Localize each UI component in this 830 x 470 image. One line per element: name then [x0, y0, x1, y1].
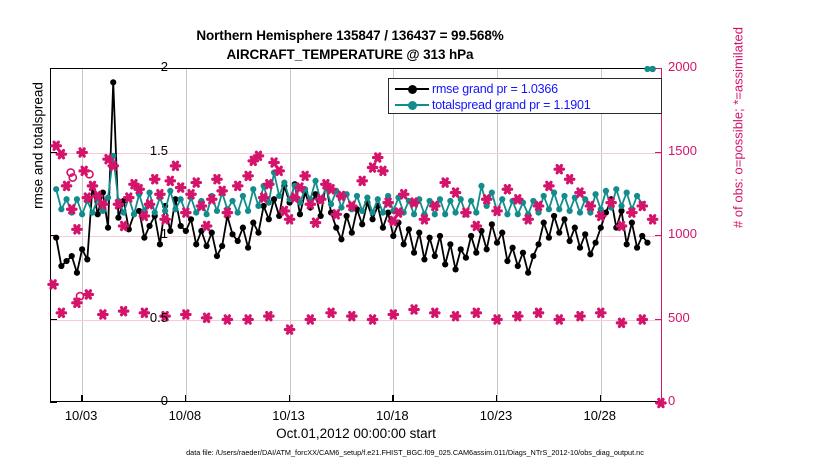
obs-assimilated-marker — [223, 316, 231, 323]
obs-assimilated-marker — [384, 199, 392, 206]
y-axis-left-tick-mark — [50, 152, 57, 153]
obs-assimilated-marker — [202, 314, 210, 321]
data-point-marker — [312, 178, 318, 184]
data-point-marker — [193, 241, 199, 247]
obs-assimilated-marker — [576, 313, 584, 320]
y-axis-left-tick-label: 1.5 — [124, 143, 168, 158]
obs-assimilated-marker — [192, 179, 200, 186]
obs-assimilated-marker — [176, 184, 184, 191]
data-point-marker — [359, 221, 365, 227]
data-point-marker — [592, 191, 598, 197]
data-point-marker — [167, 188, 173, 194]
obs-assimilated-marker — [275, 167, 283, 174]
data-point-marker — [629, 220, 635, 226]
data-point-marker — [390, 233, 396, 239]
obs-assimilated-marker — [482, 196, 490, 203]
y-axis-left-tick-mark — [50, 319, 57, 320]
obs-assimilated-marker — [514, 196, 522, 203]
data-point-marker — [364, 194, 370, 200]
data-point-marker — [219, 243, 225, 249]
data-point-marker — [266, 216, 272, 222]
obs-assimilated-marker — [617, 319, 625, 326]
data-point-marker — [489, 221, 495, 227]
x-axis-tick-mark — [81, 395, 82, 402]
obs-assimilated-marker — [83, 194, 91, 201]
data-point-marker — [561, 216, 567, 222]
data-point-marker — [546, 206, 552, 212]
data-point-marker — [229, 231, 235, 237]
obs-assimilated-marker — [166, 177, 174, 184]
data-file-footer: data file: /Users/raeder/DAI/ATM_forcXX/… — [0, 448, 830, 457]
data-point-marker — [63, 196, 69, 202]
obs-assimilated-marker — [265, 181, 273, 188]
x-axis-tick-mark — [289, 395, 290, 402]
data-point-marker — [53, 186, 59, 192]
data-point-marker — [582, 231, 588, 237]
data-point-marker — [520, 250, 526, 256]
data-point-marker — [172, 206, 178, 212]
data-point-marker — [214, 253, 220, 259]
data-point-marker — [178, 223, 184, 229]
obs-assimilated-marker — [410, 199, 418, 206]
data-point-marker — [338, 236, 344, 242]
data-point-marker — [525, 270, 531, 276]
obs-assimilated-marker — [296, 184, 304, 191]
chart-legend: rmse grand pr = 1.0366 totalspread grand… — [388, 78, 662, 114]
data-point-marker — [245, 245, 251, 251]
obs-assimilated-marker — [182, 209, 190, 216]
data-point-marker — [447, 241, 453, 247]
obs-assimilated-marker — [311, 219, 319, 226]
data-point-marker — [255, 203, 261, 209]
data-point-marker — [328, 201, 334, 207]
obs-assimilated-marker — [327, 186, 335, 193]
obs-assimilated-marker — [348, 313, 356, 320]
data-point-marker — [297, 211, 303, 217]
data-point-marker — [463, 255, 469, 261]
obs-assimilated-marker — [607, 199, 615, 206]
obs-assimilated-marker — [88, 182, 96, 189]
obs-assimilated-marker — [576, 189, 584, 196]
series--of-obs-assimilated — [49, 142, 665, 406]
legend-label-rmse: rmse grand pr = 1.0366 — [432, 82, 558, 96]
chart-title: Northern Hemisphere 135847 / 136437 = 99… — [0, 26, 700, 64]
obs-assimilated-marker — [187, 191, 195, 198]
obs-assimilated-marker — [306, 201, 314, 208]
obs-assimilated-marker — [472, 309, 480, 316]
x-axis-tick-mark — [185, 395, 186, 402]
obs-assimilated-marker — [234, 182, 242, 189]
x-axis-tick-label: 10/08 — [150, 408, 220, 423]
data-point-marker — [468, 233, 474, 239]
data-point-marker — [406, 226, 412, 232]
data-point-marker — [427, 235, 433, 241]
obs-assimilated-marker — [62, 182, 70, 189]
data-point-marker — [551, 213, 557, 219]
obs-assimilated-marker — [441, 179, 449, 186]
data-point-marker — [79, 246, 85, 252]
obs-assimilated-marker — [399, 191, 407, 198]
data-point-marker — [634, 193, 640, 199]
obs-assimilated-marker — [57, 151, 65, 158]
obs-assimilated-marker — [213, 176, 221, 183]
y-axis-left-tick-label: 0.5 — [124, 310, 168, 325]
obs-assimilated-marker — [125, 194, 133, 201]
data-point-marker — [556, 230, 562, 236]
data-point-marker — [499, 196, 505, 202]
x-axis-tick-label: 10/18 — [357, 408, 427, 423]
data-point-marker — [437, 233, 443, 239]
data-point-marker — [380, 225, 386, 231]
figure-canvas: Northern Hemisphere 135847 / 136437 = 99… — [0, 0, 830, 470]
obs-assimilated-marker — [493, 316, 501, 323]
data-point-marker — [509, 245, 515, 251]
y-axis-left-tick-mark — [50, 235, 57, 236]
y-axis-right-tick-label: 1000 — [668, 226, 728, 241]
obs-assimilated-marker — [57, 309, 65, 316]
x-axis-tick-label: 10/23 — [461, 408, 531, 423]
obs-assimilated-marker — [389, 311, 397, 318]
data-point-marker — [592, 240, 598, 246]
obs-assimilated-marker — [73, 226, 81, 233]
obs-assimilated-marker — [628, 209, 636, 216]
data-point-marker — [121, 210, 127, 216]
obs-assimilated-marker — [565, 176, 573, 183]
obs-assimilated-marker — [109, 162, 117, 169]
data-point-marker — [624, 241, 630, 247]
data-point-marker — [369, 210, 375, 216]
obs-assimilated-marker — [244, 316, 252, 323]
data-point-marker — [577, 245, 583, 251]
obs-assimilated-marker — [374, 154, 382, 161]
data-point-marker — [240, 193, 246, 199]
y-axis-right-tick-mark — [655, 402, 662, 403]
data-point-marker — [250, 220, 256, 226]
obs-assimilated-marker — [368, 316, 376, 323]
data-point-marker — [613, 186, 619, 192]
obs-assimilated-marker — [534, 202, 542, 209]
obs-assimilated-marker — [389, 217, 397, 224]
obs-assimilated-marker — [524, 216, 532, 223]
data-point-marker — [577, 210, 583, 216]
obs-assimilated-marker — [265, 313, 273, 320]
data-point-marker — [271, 196, 277, 202]
y-axis-left-label: rmse and totalspread — [31, 16, 46, 276]
y-axis-right-tick-label: 2000 — [668, 59, 728, 74]
data-point-marker — [58, 206, 64, 212]
y-axis-left-tick-label: 2 — [124, 59, 168, 74]
obs-assimilated-marker — [306, 316, 314, 323]
obs-assimilated-marker — [337, 192, 345, 199]
obs-assimilated-marker — [431, 202, 439, 209]
obs-assimilated-marker — [156, 191, 164, 198]
data-point-marker — [618, 203, 624, 209]
data-point-marker — [432, 211, 438, 217]
x-axis-tick-label: 10/03 — [46, 408, 116, 423]
legend-item-rmse: rmse grand pr = 1.0366 — [395, 81, 661, 97]
data-point-marker — [349, 230, 355, 236]
obs-assimilated-marker — [555, 316, 563, 323]
obs-assimilated-marker — [49, 281, 57, 288]
data-point-marker — [530, 253, 536, 259]
y-axis-right-tick-label: 1500 — [668, 143, 728, 158]
data-point-marker — [452, 210, 458, 216]
obs-assimilated-marker — [182, 311, 190, 318]
data-point-marker — [567, 208, 573, 214]
y-axis-right-label: # of obs: o=possible; *=assimilated — [731, 0, 746, 288]
obs-assimilated-marker — [202, 222, 210, 229]
data-point-marker — [546, 235, 552, 241]
data-point-marker — [442, 211, 448, 217]
obs-assimilated-marker — [586, 202, 594, 209]
data-point-marker — [416, 230, 422, 236]
data-point-marker — [535, 241, 541, 247]
data-point-marker — [572, 225, 578, 231]
data-point-marker — [89, 210, 95, 216]
y-axis-left-tick-mark — [50, 68, 57, 69]
y-axis-right-tick-mark — [655, 319, 662, 320]
legend-label-totalspread: totalspread grand pr = 1.1901 — [432, 98, 591, 112]
data-point-marker — [561, 193, 567, 199]
data-point-marker — [183, 228, 189, 234]
data-point-marker — [214, 208, 220, 214]
obs-assimilated-marker — [135, 186, 143, 193]
obs-assimilated-marker — [503, 186, 511, 193]
obs-assimilated-marker — [332, 211, 340, 218]
data-point-marker — [245, 208, 251, 214]
data-point-marker — [203, 243, 209, 249]
x-axis-tick-label: 10/28 — [565, 408, 635, 423]
data-point-marker — [484, 246, 490, 252]
obs-assimilated-marker — [493, 207, 501, 214]
obs-assimilated-marker — [218, 187, 226, 194]
obs-assimilated-marker — [555, 166, 563, 173]
obs-assimilated-marker — [648, 216, 656, 223]
data-point-marker — [157, 241, 163, 247]
obs-assimilated-marker — [244, 172, 252, 179]
obs-assimilated-marker — [638, 316, 646, 323]
data-point-marker — [110, 79, 116, 85]
chart-title-line-2: AIRCRAFT_TEMPERATURE @ 313 hPa — [0, 45, 700, 64]
obs-assimilated-marker — [431, 309, 439, 316]
obs-assimilated-marker — [638, 202, 646, 209]
data-point-marker — [255, 230, 261, 236]
obs-assimilated-marker — [451, 313, 459, 320]
obs-assimilated-marker — [316, 196, 324, 203]
data-point-marker — [235, 238, 241, 244]
obs-assimilated-marker — [410, 306, 418, 313]
y-axis-left-tick-mark — [50, 402, 57, 403]
y-axis-right-tick-mark — [655, 68, 662, 69]
data-point-marker — [146, 189, 152, 195]
data-point-marker — [442, 261, 448, 267]
data-point-marker — [178, 196, 184, 202]
obs-assimilated-marker — [291, 194, 299, 201]
legend-item-totalspread: totalspread grand pr = 1.1901 — [395, 97, 661, 113]
legend-marker-rmse-icon — [395, 82, 429, 96]
obs-assimilated-marker — [270, 159, 278, 166]
obs-assimilated-marker — [420, 216, 428, 223]
obs-assimilated-marker — [140, 212, 148, 219]
obs-assimilated-marker — [545, 182, 553, 189]
data-point-marker — [79, 211, 85, 217]
obs-assimilated-marker — [472, 222, 480, 229]
data-point-marker — [105, 225, 111, 231]
obs-assimilated-marker — [93, 192, 101, 199]
data-point-marker — [432, 253, 438, 259]
obs-assimilated-marker — [597, 309, 605, 316]
obs-assimilated-marker — [254, 152, 262, 159]
data-point-marker — [411, 250, 417, 256]
data-point-marker — [401, 241, 407, 247]
data-point-marker — [240, 225, 246, 231]
data-point-marker — [359, 208, 365, 214]
data-point-marker — [478, 183, 484, 189]
obs-assimilated-marker — [161, 216, 169, 223]
obs-assimilated-marker — [223, 209, 231, 216]
obs-assimilated-marker — [285, 216, 293, 223]
y-axis-right-tick-label: 0 — [668, 393, 728, 408]
data-point-marker — [369, 216, 375, 222]
data-point-marker — [131, 211, 137, 217]
data-point-marker — [541, 220, 547, 226]
obs-assimilated-marker — [171, 162, 179, 169]
data-point-marker — [63, 258, 69, 264]
obs-assimilated-marker — [327, 309, 335, 316]
obs-assimilated-marker — [84, 291, 92, 298]
data-point-marker — [598, 225, 604, 231]
data-point-marker — [152, 210, 158, 216]
data-point-marker — [458, 246, 464, 252]
data-point-marker — [281, 179, 287, 185]
data-point-marker — [494, 240, 500, 246]
y-axis-left-tick-label: 0 — [124, 393, 168, 408]
data-point-marker — [639, 233, 645, 239]
data-point-marker — [229, 198, 235, 204]
data-point-marker — [203, 211, 209, 217]
data-point-marker — [473, 250, 479, 256]
x-axis-tick-mark — [600, 395, 601, 402]
x-axis-label: Oct.01,2012 00:00:00 start — [50, 426, 662, 441]
data-point-marker — [115, 215, 121, 221]
obs-assimilated-marker — [99, 311, 107, 318]
data-point-marker — [515, 211, 521, 217]
data-point-marker — [235, 210, 241, 216]
data-point-marker — [624, 189, 630, 195]
obs-assimilated-marker — [78, 149, 86, 156]
obs-assimilated-marker — [145, 201, 153, 208]
obs-assimilated-marker — [348, 202, 356, 209]
obs-assimilated-marker — [208, 196, 216, 203]
data-point-marker — [556, 206, 562, 212]
data-point-marker — [354, 193, 360, 199]
y-axis-left-tick-label: 1 — [124, 226, 168, 241]
data-point-marker — [276, 193, 282, 199]
chart-title-line-1: Northern Hemisphere 135847 / 136437 = 99… — [0, 26, 700, 45]
data-point-marker — [375, 196, 381, 202]
obs-assimilated-marker — [280, 207, 288, 214]
obs-assimilated-marker — [358, 177, 366, 184]
obs-assimilated-marker — [301, 172, 309, 179]
data-point-marker — [74, 270, 80, 276]
data-point-marker — [447, 198, 453, 204]
x-axis-tick-mark — [496, 395, 497, 402]
obs-assimilated-marker — [451, 189, 459, 196]
data-point-marker — [411, 211, 417, 217]
obs-assimilated-marker — [514, 313, 522, 320]
data-point-marker — [69, 253, 75, 259]
obs-assimilated-marker — [197, 202, 205, 209]
data-point-marker — [515, 263, 521, 269]
data-point-marker — [541, 193, 547, 199]
data-point-marker — [380, 210, 386, 216]
obs-assimilated-marker — [52, 142, 60, 149]
obs-assimilated-marker — [259, 194, 267, 201]
data-point-marker — [504, 258, 510, 264]
obs-assimilated-marker — [114, 201, 122, 208]
data-point-marker — [603, 188, 609, 194]
data-point-marker — [58, 263, 64, 269]
x-axis-tick-label: 10/13 — [254, 408, 324, 423]
data-point-marker — [468, 198, 474, 204]
data-point-marker — [587, 251, 593, 257]
x-axis-tick-mark — [392, 395, 393, 402]
obs-assimilated-marker — [379, 167, 387, 174]
y-axis-right-tick-label: 500 — [668, 310, 728, 325]
data-point-marker — [452, 266, 458, 272]
obs-assimilated-marker — [99, 201, 107, 208]
data-point-marker — [74, 196, 80, 202]
y-axis-right-tick-mark — [655, 152, 662, 153]
data-point-marker — [84, 256, 90, 262]
obs-assimilated-marker — [151, 176, 159, 183]
obs-assimilated-marker — [617, 222, 625, 229]
data-point-marker — [567, 238, 573, 244]
data-point-marker — [499, 230, 505, 236]
obs-assimilated-marker — [534, 309, 542, 316]
legend-marker-totalspread-icon — [395, 98, 429, 112]
obs-assimilated-marker — [285, 326, 293, 333]
data-point-marker — [333, 225, 339, 231]
obs-assimilated-marker — [368, 164, 376, 171]
data-point-marker — [162, 208, 168, 214]
obs-assimilated-marker — [68, 206, 76, 213]
data-point-marker — [167, 228, 173, 234]
obs-assimilated-marker — [597, 212, 605, 219]
data-point-marker — [344, 213, 350, 219]
obs-assimilated-marker — [462, 209, 470, 216]
obs-assimilated-marker — [394, 209, 402, 216]
data-point-marker — [644, 240, 650, 246]
y-axis-right-tick-mark — [655, 235, 662, 236]
data-point-marker — [634, 245, 640, 251]
data-point-marker — [504, 211, 510, 217]
data-point-marker — [473, 210, 479, 216]
data-point-marker — [421, 256, 427, 262]
data-point-marker — [250, 186, 256, 192]
